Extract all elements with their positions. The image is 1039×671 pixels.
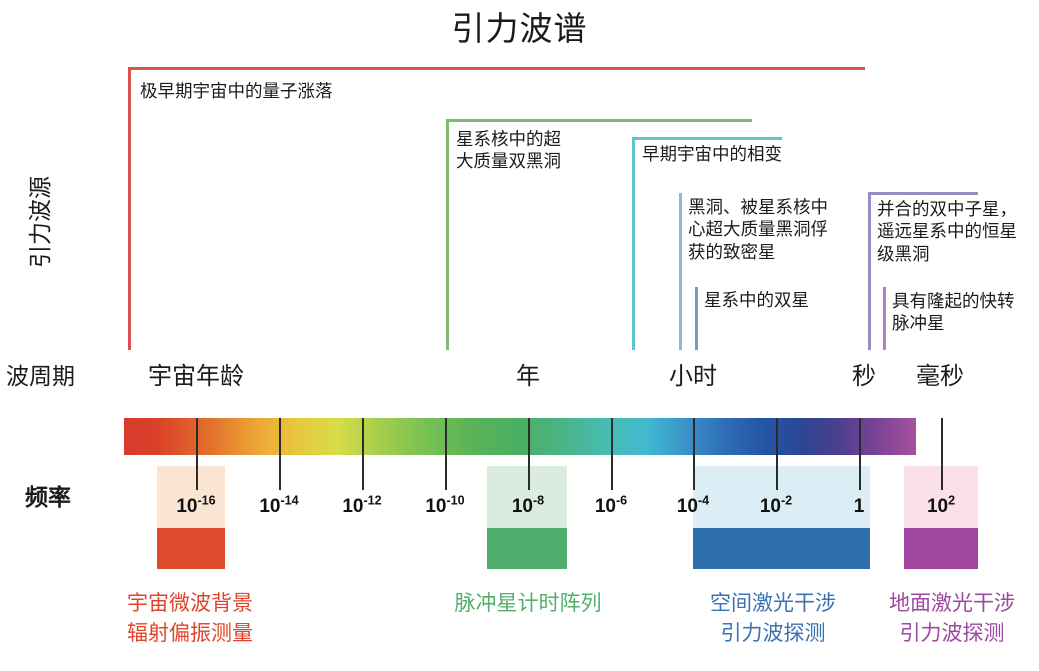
frequency-tick-exponent: ‐4 <box>698 494 709 508</box>
period-tick-label: 小时 <box>603 356 783 391</box>
detector-label: 地面激光干涉 引力波探测 <box>862 589 1039 650</box>
bracket-rapidly-rotating-pulsars-stem <box>883 287 886 350</box>
bracket-merging-neutron-stars-stem <box>868 192 871 350</box>
frequency-tick-mark <box>941 418 943 490</box>
frequency-tick-exponent: ‐10 <box>447 494 465 508</box>
detector-label: 脉冲星计时阵列 <box>398 589 658 619</box>
frequency-axis-label: 频率 <box>25 478 71 512</box>
frequency-tick-base: 10 <box>259 496 280 517</box>
detector-band-block <box>904 528 978 569</box>
frequency-tick-base: 10 <box>342 496 363 517</box>
frequency-tick-base: 10 <box>595 496 616 517</box>
source-label-merging-neutron-stars: 并合的双中子星， 遥远星系中的恒星 级黑洞 <box>877 198 1039 265</box>
detector-label: 宇宙微波背景 辐射偏振测量 <box>60 589 320 650</box>
sources-axis-label: 引力波源 <box>21 152 55 292</box>
source-label-captured-compact-objects: 黑洞、被星系核中 心超大质量黑洞俘 获的致密星 <box>688 196 858 263</box>
frequency-tick-exponent: ‐8 <box>533 494 544 508</box>
frequency-tick-exponent: ‐14 <box>281 494 299 508</box>
bracket-captured-compact-objects-stem <box>679 193 682 350</box>
frequency-tick-mark <box>776 418 778 490</box>
frequency-tick-exponent: 2 <box>948 494 955 508</box>
bracket-smbh-binaries-stem <box>446 119 449 350</box>
frequency-tick-mark <box>196 418 198 490</box>
period-tick-label: 宇宙年龄 <box>106 356 286 391</box>
frequency-tick-mark <box>362 418 364 490</box>
frequency-tick-base: 10 <box>760 496 781 517</box>
period-tick-label: 年 <box>438 356 618 391</box>
gravitational-wave-spectrum-figure: 引力波谱 引力波源 波周期 频率 极早期宇宙中的量子涨落 星系核中的超 大质量双… <box>0 0 1039 671</box>
frequency-tick-exponent: ‐16 <box>198 494 216 508</box>
frequency-tick-base: 10 <box>927 496 948 517</box>
bracket-phase-transitions-top <box>632 137 782 140</box>
frequency-tick-base: 10 <box>176 496 197 517</box>
bracket-smbh-binaries-top <box>446 119 752 122</box>
frequency-tick-mark <box>859 418 861 490</box>
detector-band-block <box>157 528 225 569</box>
figure-title: 引力波谱 <box>0 2 1039 50</box>
source-label-phase-transitions: 早期宇宙中的相变 <box>642 143 872 165</box>
frequency-tick-base: 10 <box>425 496 446 517</box>
period-tick-label: 毫秒 <box>850 356 1030 391</box>
frequency-tick-mark <box>611 418 613 490</box>
frequency-tick-base: 1 <box>854 496 865 517</box>
detector-band-block <box>693 528 870 569</box>
spectrum-gradient-bar <box>124 418 916 455</box>
bracket-merging-neutron-stars-top <box>868 192 978 195</box>
source-label-smbh-binaries: 星系核中的超 大质量双黑洞 <box>456 128 631 173</box>
frequency-tick-mark <box>445 418 447 490</box>
frequency-tick-mark <box>693 418 695 490</box>
detector-label: 空间激光干涉 引力波探测 <box>678 589 868 650</box>
frequency-tick-mark <box>528 418 530 490</box>
frequency-tick-exponent: ‐12 <box>364 494 382 508</box>
frequency-tick-exponent: ‐6 <box>616 494 627 508</box>
bracket-galactic-binaries-stem <box>695 287 698 350</box>
source-label-quantum-fluctuations: 极早期宇宙中的量子涨落 <box>140 80 470 102</box>
detector-band-block <box>487 528 567 569</box>
frequency-tick-mark <box>279 418 281 490</box>
source-label-rapidly-rotating-pulsars: 具有隆起的快转 脉冲星 <box>892 290 1039 335</box>
frequency-tick-label: 102 <box>881 496 1001 518</box>
period-axis-label: 波周期 <box>6 357 75 391</box>
bracket-quantum-fluctuations-top <box>128 67 865 70</box>
bracket-phase-transitions-stem <box>632 137 635 350</box>
bracket-quantum-fluctuations-stem <box>128 67 131 350</box>
frequency-tick-exponent: ‐2 <box>781 494 792 508</box>
frequency-tick-base: 10 <box>677 496 698 517</box>
source-label-galactic-binaries: 星系中的双星 <box>704 289 884 311</box>
frequency-tick-base: 10 <box>512 496 533 517</box>
